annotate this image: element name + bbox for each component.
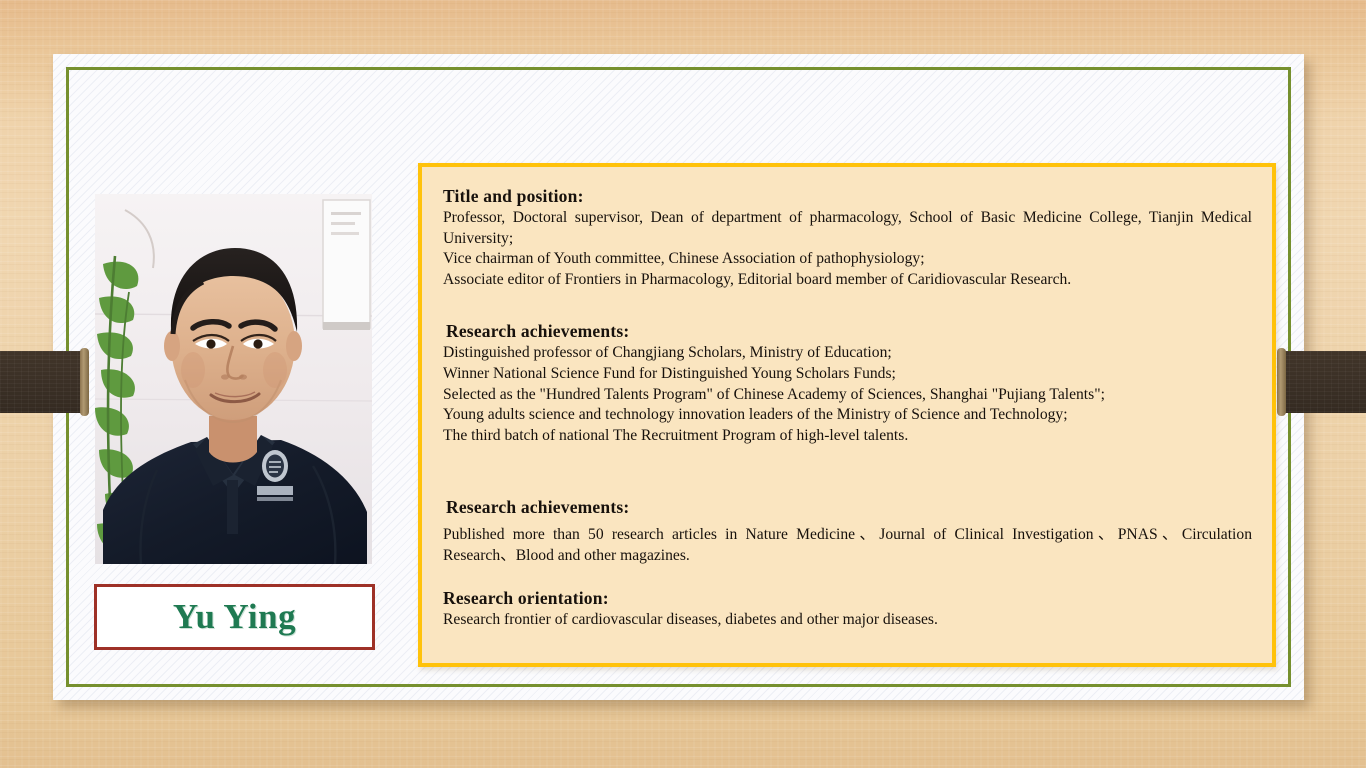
info-panel-body: Title and position: Professor, Doctoral … — [422, 167, 1272, 640]
ribbon-cap-left-icon — [80, 348, 89, 416]
spacer — [443, 476, 1252, 496]
ribbon-cap-right-icon — [1277, 348, 1286, 416]
achievements-1-line-2: Winner National Science Fund for Disting… — [443, 364, 1252, 385]
profile-name: Yu Ying — [173, 597, 296, 637]
achievements-2-line-1: Published more than 50 research articles… — [443, 525, 1252, 566]
section-heading-research-orientation: Research orientation: — [443, 587, 1252, 609]
spacer — [443, 290, 1252, 320]
portrait-image — [95, 194, 372, 564]
achievements-1-line-3: Selected as the "Hundred Talents Program… — [443, 385, 1252, 406]
achievements-1-line-4: Young adults science and technology inno… — [443, 405, 1252, 426]
decorative-ribbon-right — [1282, 351, 1366, 413]
achievements-1-line-5: The third batch of national The Recruitm… — [443, 426, 1252, 447]
section-heading-research-achievements-1: Research achievements: — [443, 320, 1252, 342]
title-position-line-2: Vice chairman of Youth committee, Chines… — [443, 249, 1252, 270]
slide-canvas: Yu Ying Title and position: Professor, D… — [0, 0, 1366, 768]
title-position-line-1: Professor, Doctoral supervisor, Dean of … — [443, 208, 1252, 249]
info-panel: Title and position: Professor, Doctoral … — [418, 163, 1276, 667]
section-heading-title-position: Title and position: — [443, 185, 1252, 207]
title-position-line-3: Associate editor of Frontiers in Pharmac… — [443, 270, 1252, 291]
name-plate: Yu Ying — [94, 584, 375, 650]
spacer — [443, 567, 1252, 587]
achievements-1-line-1: Distinguished professor of Changjiang Sc… — [443, 343, 1252, 364]
decorative-ribbon-left — [0, 351, 84, 413]
section-heading-research-achievements-2: Research achievements: — [443, 496, 1252, 518]
spacer — [443, 446, 1252, 476]
profile-photo — [95, 194, 372, 564]
orientation-line-1: Research frontier of cardiovascular dise… — [443, 610, 1252, 631]
